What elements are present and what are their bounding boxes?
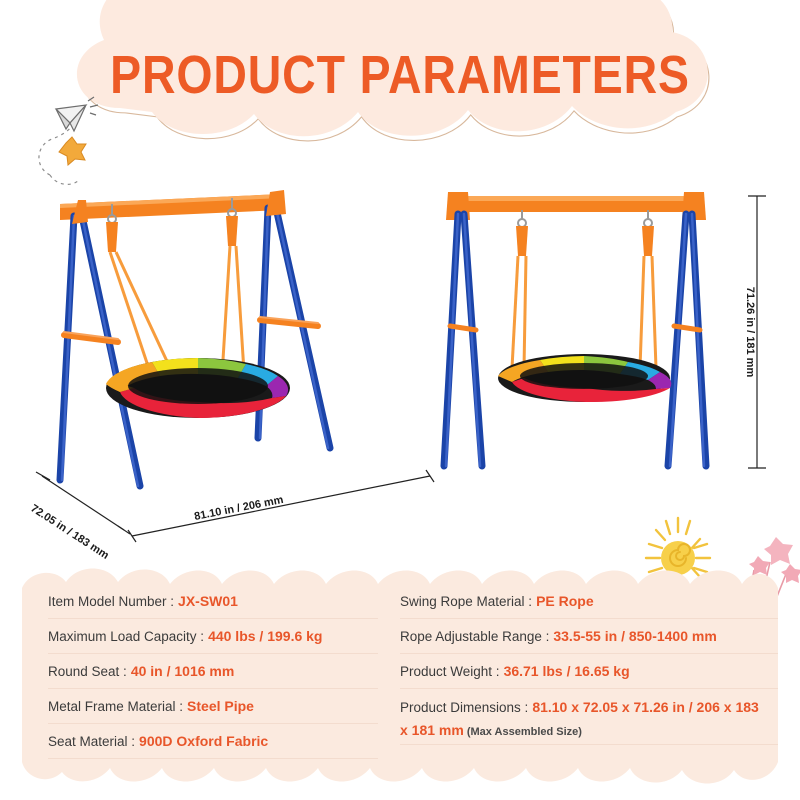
- star-icon: [59, 137, 86, 165]
- spec-row: Swing Rope Material : PE Rope: [400, 584, 778, 619]
- spec-note: (Max Assembled Size): [467, 726, 582, 738]
- spec-column-right: Swing Rope Material : PE Rope Rope Adjus…: [378, 562, 778, 790]
- spec-label: Item Model Number :: [48, 594, 174, 609]
- swing-ropes: [110, 246, 244, 378]
- spec-row: Seat Material : 900D Oxford Fabric: [48, 724, 378, 759]
- spec-row: Product Dimensions :81.10 x 72.05 x 71.2…: [400, 689, 778, 745]
- spec-value: Steel Pipe: [187, 698, 254, 714]
- paper-plane-icon: [30, 95, 114, 191]
- spec-value: 440 lbs / 199.6 kg: [208, 628, 322, 644]
- spec-value: 900D Oxford Fabric: [139, 733, 268, 749]
- spec-row: Product Weight : 36.71 lbs / 16.65 kg: [400, 654, 778, 689]
- spec-label: Metal Frame Material :: [48, 699, 183, 714]
- right-a-frame: [258, 190, 330, 448]
- spec-label: Rope Adjustable Range :: [400, 629, 549, 644]
- spec-label: Product Dimensions :: [400, 700, 528, 715]
- spec-row: Metal Frame Material : Steel Pipe: [48, 689, 378, 724]
- spec-value: 33.5-55 in / 850-1400 mm: [553, 628, 716, 644]
- front-left-legs: [444, 214, 482, 466]
- spec-label: Product Weight :: [400, 664, 500, 679]
- front-ropes: [512, 256, 656, 368]
- spec-label: Swing Rope Material :: [400, 594, 532, 609]
- spec-label: Round Seat :: [48, 664, 127, 679]
- spec-row: Item Model Number : JX-SW01: [48, 584, 378, 619]
- front-seat: [498, 354, 671, 402]
- spec-value: PE Rope: [536, 593, 594, 609]
- spec-row: Rope Adjustable Range : 33.5-55 in / 850…: [400, 619, 778, 654]
- dimension-height-label: 71.26 in / 181 mm: [744, 287, 756, 378]
- swing-set-front-view: [444, 192, 706, 466]
- spec-value: 36.71 lbs / 16.65 kg: [504, 663, 630, 679]
- dimension-depth-label: 72.05 in / 183 mm: [28, 502, 111, 561]
- product-parameters-page: PRODUCT PARAMETERS: [0, 0, 800, 800]
- spec-row: Round Seat : 40 in / 1016 mm: [48, 654, 378, 689]
- page-title: PRODUCT PARAMETERS: [56, 44, 744, 106]
- spec-value: 40 in / 1016 mm: [131, 663, 235, 679]
- plane-glyph: [56, 97, 98, 131]
- spec-column-left: Item Model Number : JX-SW01 Maximum Load…: [22, 562, 378, 790]
- front-right-legs: [668, 214, 706, 466]
- spec-row: Maximum Load Capacity : 440 lbs / 199.6 …: [48, 619, 378, 654]
- spec-label: Maximum Load Capacity :: [48, 629, 204, 644]
- swing-set-perspective-view: [60, 190, 330, 486]
- spec-label: Seat Material :: [48, 734, 135, 749]
- specifications-panel: Item Model Number : JX-SW01 Maximum Load…: [22, 562, 778, 790]
- spec-value: JX-SW01: [178, 593, 238, 609]
- left-a-frame: [60, 200, 140, 486]
- front-hangers: [516, 210, 654, 256]
